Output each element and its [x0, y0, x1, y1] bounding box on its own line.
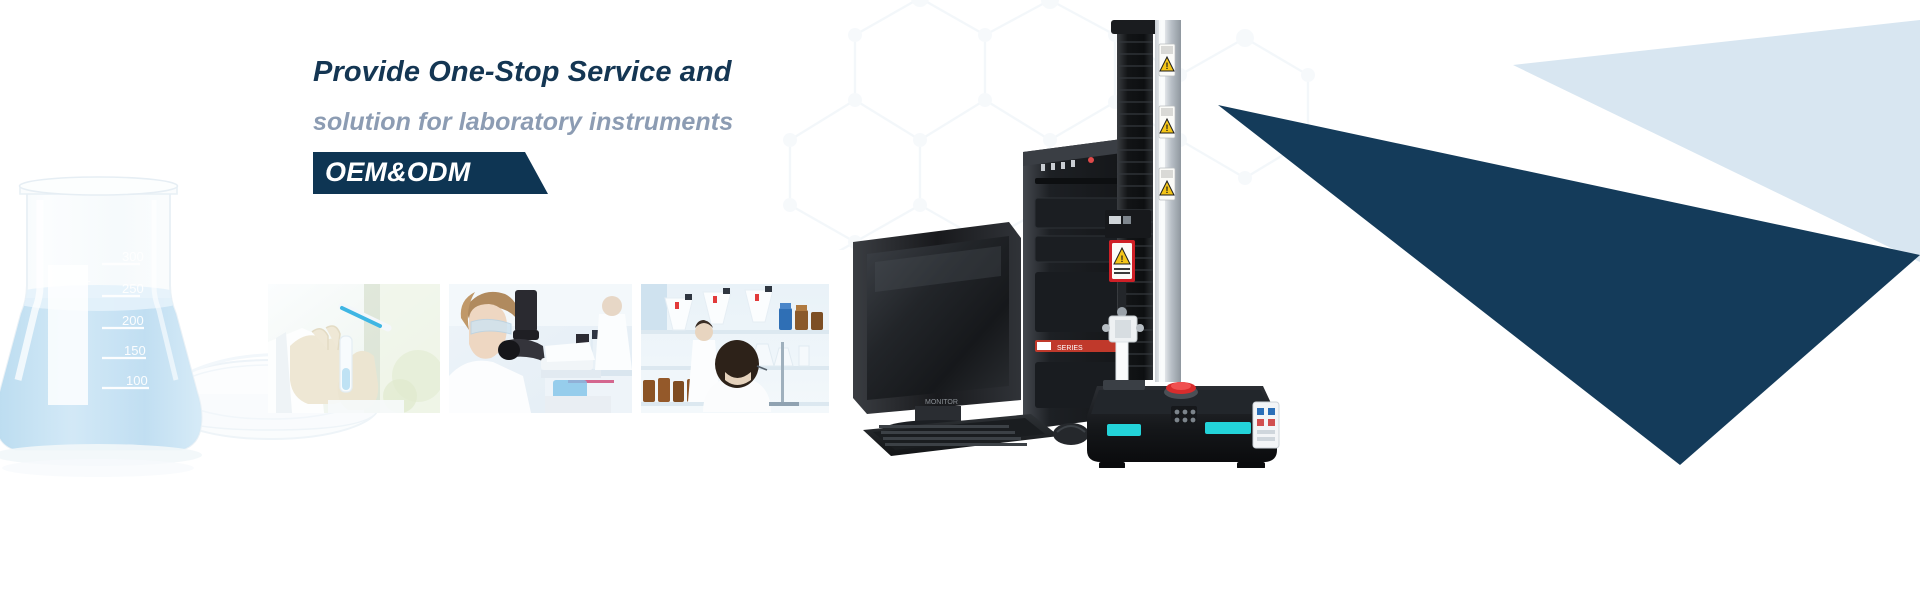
universal-tensile-testing-machine: ! ! ! ! [1085, 18, 1295, 468]
badge-label: OEM&ODM [313, 152, 504, 193]
svg-text:SERIES: SERIES [1057, 345, 1083, 352]
tester-crosshead: ! [1105, 210, 1151, 282]
photo-pipetting[interactable] [268, 284, 440, 413]
svg-text:250: 250 [122, 281, 144, 296]
photo-strip [268, 284, 829, 413]
light-blue-triangle [1513, 20, 1920, 262]
svg-text:150: 150 [124, 343, 146, 358]
tester-warning-labels: ! ! ! [1159, 44, 1175, 200]
headline-primary: Provide One-Stop Service and [313, 58, 1013, 87]
svg-text:!: ! [1121, 254, 1124, 264]
erlenmeyer-flask: 300 250 200 150 100 mL [0, 177, 214, 477]
oem-odm-badge[interactable]: OEM&ODM [313, 152, 504, 193]
svg-text:100: 100 [126, 373, 148, 388]
background-shapes [1180, 0, 1920, 597]
headline-secondary: solution for laboratory instruments [313, 110, 1013, 135]
tester-upper-grip [1102, 282, 1144, 408]
emergency-stop-button [1164, 382, 1198, 399]
svg-text:!: ! [1166, 61, 1169, 71]
svg-text:200: 200 [122, 313, 144, 328]
dark-navy-arrow-triangle [1218, 105, 1920, 465]
desktop-lcd-monitor: MONITOR [853, 222, 1021, 440]
tester-lower-grip [1102, 406, 1144, 452]
svg-text:MONITOR: MONITOR [925, 399, 958, 406]
photo-lab-team[interactable] [641, 284, 829, 413]
svg-text:!: ! [1166, 185, 1169, 195]
desktop-computer-tower: SERIES [1023, 136, 1145, 430]
headline-block: Provide One-Stop Service and solution fo… [313, 58, 1013, 193]
computer-keyboard [863, 414, 1059, 456]
svg-text:!: ! [1166, 123, 1169, 133]
promo-banner: 300 250 200 150 100 mL Provide One-Stop … [0, 0, 1920, 597]
tester-base [1087, 380, 1279, 468]
svg-text:300: 300 [122, 249, 144, 264]
svg-text:mL: mL [74, 271, 91, 285]
photo-microscope[interactable] [449, 284, 632, 413]
computer-mouse [1053, 423, 1089, 445]
